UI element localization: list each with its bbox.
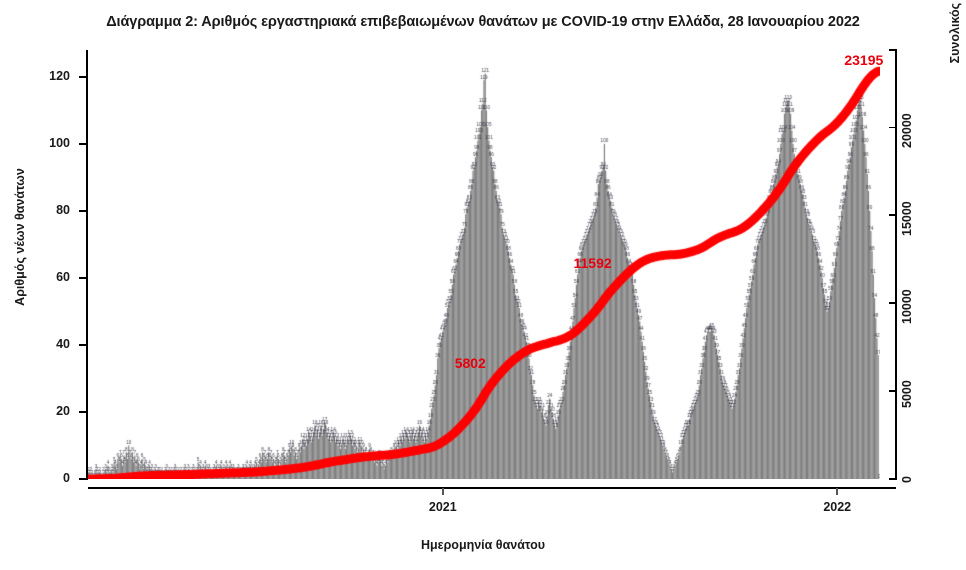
y-tick-left [79, 143, 86, 145]
y-tick-label-left: 120 [30, 69, 70, 83]
y-tick-right [889, 127, 896, 129]
y-tick-left [79, 411, 86, 413]
y-tick-left [79, 478, 86, 480]
cumulative-annotation: 11592 [573, 255, 611, 271]
y-axis-left-label: Αριθμός νέων θανάτων [13, 67, 27, 407]
y-tick-left [79, 344, 86, 346]
y-axis-right-cap [889, 478, 897, 480]
y-tick-label-left: 0 [30, 471, 70, 485]
x-axis-label: Ημερομηνία θανάτου [0, 538, 966, 552]
plot-area [88, 50, 880, 479]
bars-and-line-canvas [88, 50, 880, 479]
y-tick-label-left: 40 [30, 337, 70, 351]
y-tick-label-right: 10000 [900, 289, 914, 324]
y-axis-right-cap [889, 49, 897, 51]
y-tick-label-right: 15000 [900, 202, 914, 237]
cumulative-annotation: 23195 [844, 52, 883, 68]
cumulative-annotation: 5802 [455, 355, 486, 371]
y-tick-label-right: 20000 [900, 114, 914, 149]
y-tick-label-left: 60 [30, 270, 70, 284]
y-tick-right [889, 390, 896, 392]
x-tick-label: 2022 [823, 500, 851, 514]
y-axis-right-label: Συνολικός αριθμός θανάτων [948, 0, 962, 130]
x-tick [442, 488, 444, 495]
x-tick [836, 488, 838, 495]
y-tick-right [889, 214, 896, 216]
y-tick-left [79, 210, 86, 212]
y-tick-right [889, 302, 896, 304]
y-tick-label-left: 20 [30, 404, 70, 418]
y-tick-label-left: 80 [30, 203, 70, 217]
y-tick-left [79, 76, 86, 78]
y-axis-right [895, 50, 897, 480]
y-tick-label-right: 0 [900, 476, 914, 483]
y-tick-label-left: 100 [30, 136, 70, 150]
y-tick-label-right: 5000 [900, 380, 914, 408]
y-tick-left [79, 277, 86, 279]
x-tick-label: 2021 [429, 500, 457, 514]
x-axis [88, 487, 896, 489]
page-title: Διάγραμμα 2: Αριθμός εργαστηριακά επιβεβ… [0, 14, 966, 30]
